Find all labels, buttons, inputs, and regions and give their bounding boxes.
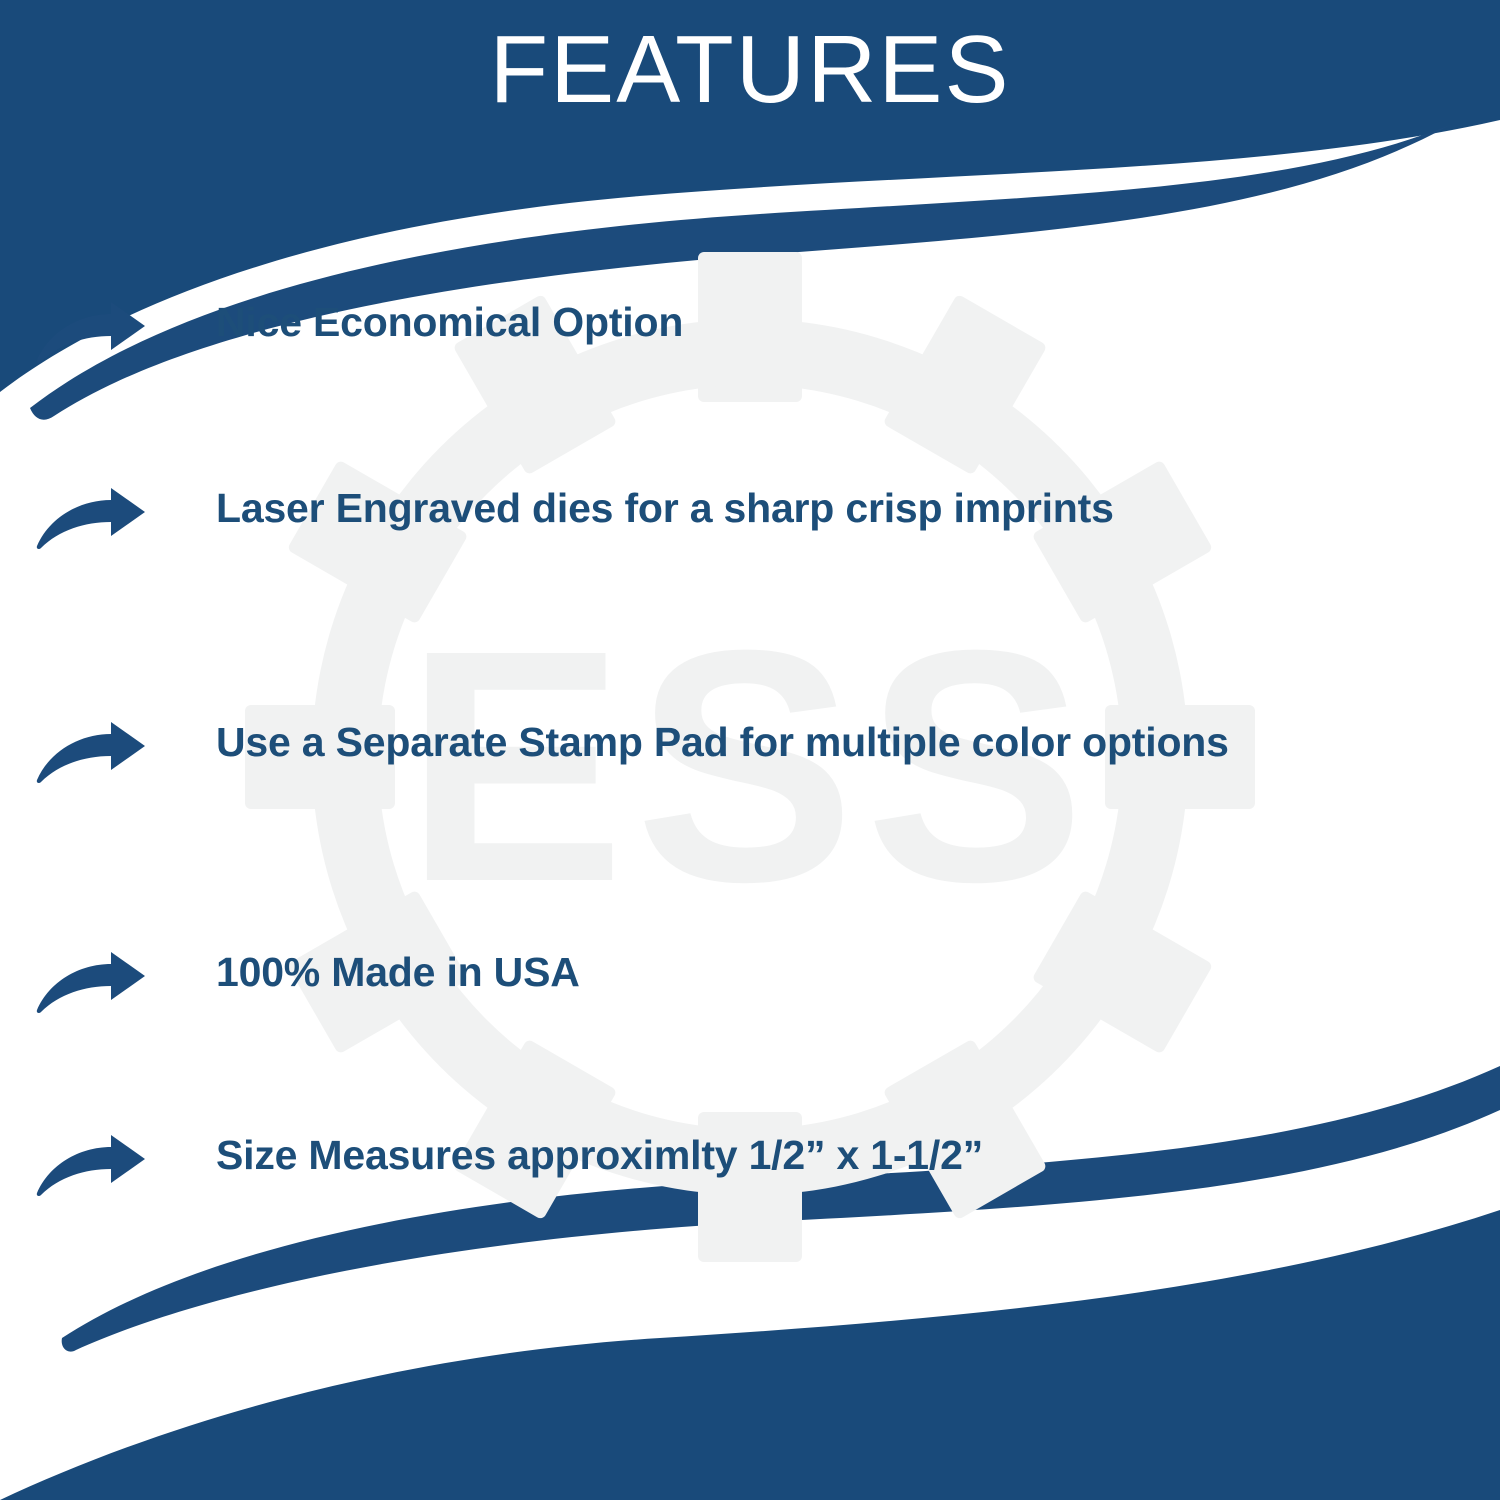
bullet-cell [0, 944, 152, 1014]
curved-arrow-right-icon [35, 302, 147, 364]
curved-arrow-right-icon [35, 722, 147, 784]
feature-label: 100% Made in USA [152, 944, 1500, 1001]
curved-arrow-right-icon [35, 488, 147, 550]
bullet-cell [0, 714, 152, 784]
curved-arrow-right-icon [35, 952, 147, 1014]
list-item: Nice Economical Option [0, 294, 1500, 364]
list-item: 100% Made in USA [0, 944, 1500, 1014]
list-item: Laser Engraved dies for a sharp crisp im… [0, 480, 1500, 550]
feature-label: Laser Engraved dies for a sharp crisp im… [152, 480, 1500, 537]
features-banner: ESS FEATURES Nice Economical Option Lase… [0, 0, 1500, 1500]
feature-label: Size Measures approximlty 1/2” x 1-1/2” [152, 1127, 1500, 1184]
header: FEATURES [0, 0, 1500, 140]
bullet-cell [0, 294, 152, 364]
page-title: FEATURES [490, 22, 1011, 118]
list-item: Size Measures approximlty 1/2” x 1-1/2” [0, 1127, 1500, 1197]
bullet-cell [0, 480, 152, 550]
list-item: Use a Separate Stamp Pad for multiple co… [0, 714, 1500, 784]
feature-label: Nice Economical Option [152, 294, 1500, 351]
bullet-cell [0, 1127, 152, 1197]
feature-label: Use a Separate Stamp Pad for multiple co… [152, 714, 1500, 771]
curved-arrow-right-icon [35, 1135, 147, 1197]
